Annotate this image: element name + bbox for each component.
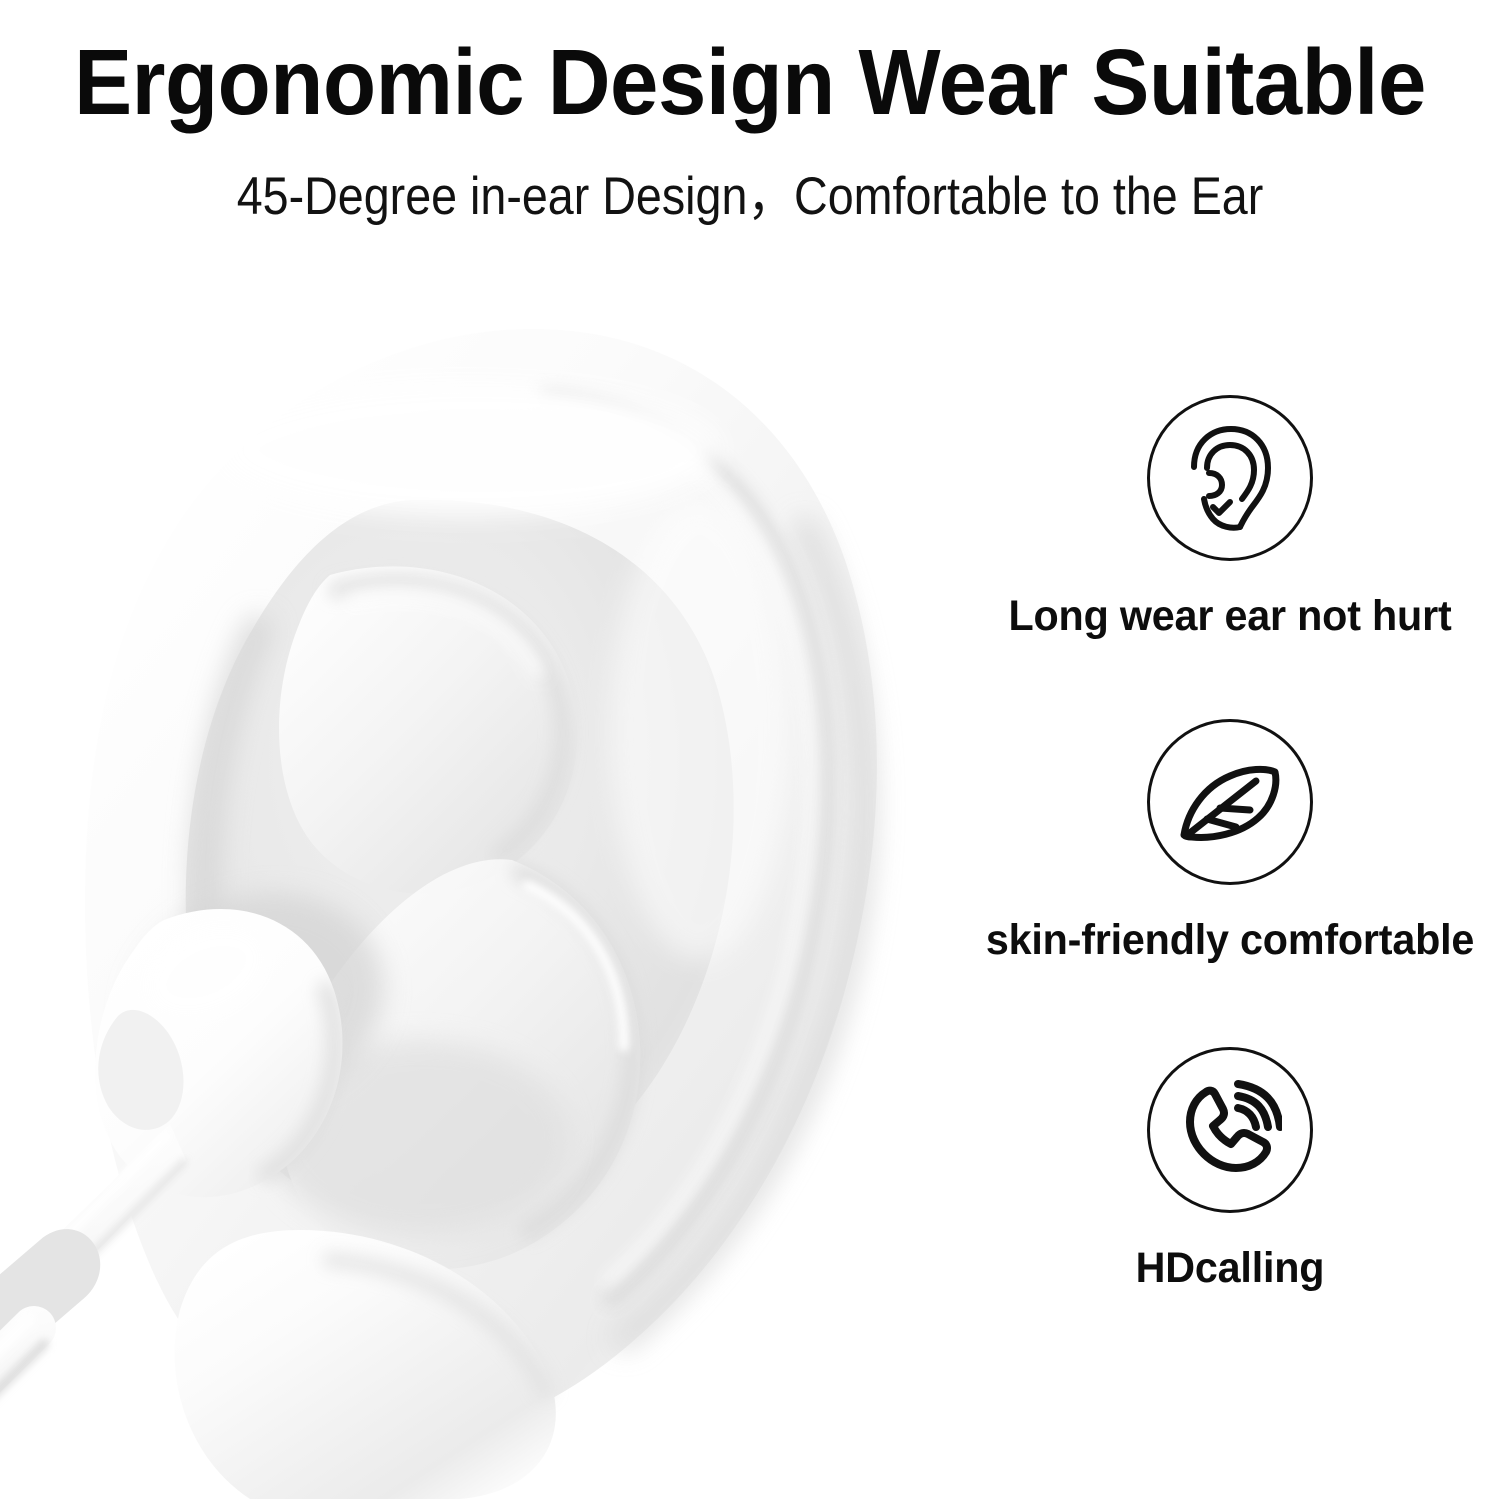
product-feature-banner: Ergonomic Design Wear Suitable 45-Degree… xyxy=(0,0,1500,1499)
feature-item-long-wear[interactable]: Long wear ear not hurt xyxy=(960,395,1500,640)
feature-label: Long wear ear not hurt xyxy=(971,593,1489,640)
page-title: Ergonomic Design Wear Suitable xyxy=(49,36,1452,129)
ear-icon xyxy=(1182,423,1278,533)
feature-label: HDcalling xyxy=(971,1245,1489,1292)
feature-icon-circle xyxy=(1147,1047,1313,1213)
feature-icon-circle xyxy=(1147,395,1313,561)
feature-item-skin-friendly[interactable]: skin-friendly comfortable xyxy=(960,719,1500,964)
feature-icon-circle xyxy=(1147,719,1313,885)
feature-label: skin-friendly comfortable xyxy=(971,917,1489,964)
feature-list: Long wear ear not hurt skin-frien xyxy=(960,395,1500,1345)
page-subtitle: 45-Degree in-ear Design，Comfortable to t… xyxy=(90,170,1410,223)
ear-with-earbud-illustration xyxy=(0,300,1010,1499)
leaf-icon xyxy=(1174,759,1286,845)
feature-item-hd-calling[interactable]: HDcalling xyxy=(960,1047,1500,1292)
phone-call-icon xyxy=(1178,1078,1282,1182)
